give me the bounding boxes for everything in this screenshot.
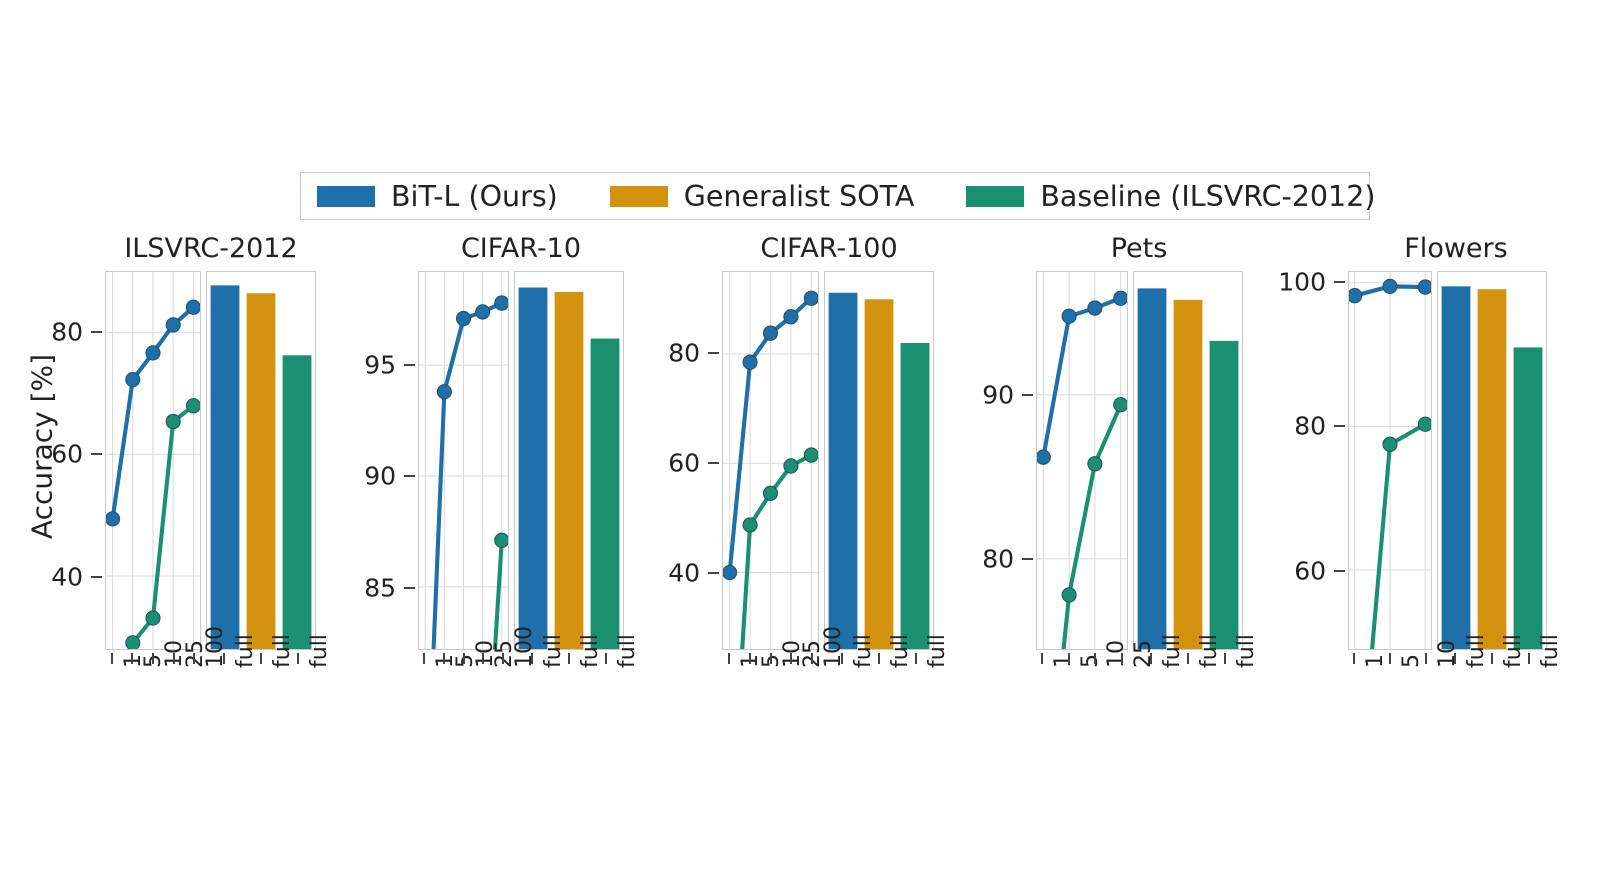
legend-swatch-baseline (966, 186, 1024, 207)
x-tick-label: full (1538, 634, 1563, 668)
x-tick-mark (1041, 653, 1043, 664)
x-tick-label: full (307, 634, 332, 668)
y-tick-mark (91, 331, 102, 333)
legend-label-baseline: Baseline (ILSVRC-2012) (1040, 180, 1375, 213)
figure-canvas: BiT-L (Ours) Generalist SOTA Baseline (I… (0, 0, 1600, 891)
x-tick-mark (193, 653, 195, 664)
y-tick-mark (1022, 394, 1033, 396)
x-tick-mark (1425, 653, 1427, 664)
x-tick-mark (568, 653, 570, 664)
y-tick-mark (91, 576, 102, 578)
x-tick-label: full (1501, 634, 1526, 668)
x-tick-mark (1068, 653, 1070, 664)
x-tick-label: full (578, 634, 603, 668)
x-tick-label: full (233, 634, 258, 668)
y-tick-label: 90 (288, 462, 396, 491)
y-tick-label: 95 (288, 350, 396, 379)
x-tick-mark (223, 653, 225, 664)
x-tick-label: full (1234, 634, 1259, 668)
x-tick-label: 10 (1435, 640, 1460, 668)
y-tick-label: 80 (1218, 412, 1326, 441)
line-axes (105, 271, 201, 650)
x-tick-mark (841, 653, 843, 664)
x-tick-mark (531, 653, 533, 664)
y-tick-mark (1334, 425, 1345, 427)
x-tick-mark (749, 653, 751, 664)
x-tick-label: full (270, 634, 295, 668)
y-tick-label: 80 (906, 545, 1014, 574)
x-tick-mark (790, 653, 792, 664)
bar-axes (1437, 271, 1547, 650)
line-axes (1348, 271, 1432, 650)
x-tick-mark (1491, 653, 1493, 664)
x-tick-mark (260, 653, 262, 664)
y-tick-mark (91, 453, 102, 455)
bar-axes (824, 271, 934, 650)
y-tick-label: 60 (1218, 556, 1326, 585)
y-tick-label: 80 (0, 318, 83, 347)
x-tick-label: 10 (1104, 640, 1129, 668)
x-tick-mark (502, 653, 504, 664)
y-tick-mark (708, 352, 719, 354)
x-tick-mark (1454, 653, 1456, 664)
x-tick-label: full (541, 634, 566, 668)
line-axes (1036, 271, 1128, 650)
y-tick-label: 40 (592, 559, 700, 588)
x-tick-label: full (1160, 634, 1185, 668)
panel-title: Flowers (1306, 233, 1600, 264)
x-tick-mark (1094, 653, 1096, 664)
x-tick-mark (770, 653, 772, 664)
y-tick-label: 40 (0, 562, 83, 591)
y-tick-label: 80 (592, 339, 700, 368)
y-tick-mark (708, 572, 719, 574)
x-tick-mark (111, 653, 113, 664)
panel-title: CIFAR-10 (371, 233, 671, 264)
x-tick-mark (463, 653, 465, 664)
legend: BiT-L (Ours) Generalist SOTA Baseline (I… (300, 172, 1370, 220)
y-tick-label: 90 (906, 380, 1014, 409)
y-tick-mark (708, 462, 719, 464)
y-tick-mark (404, 475, 415, 477)
panel-title: ILSVRC-2012 (61, 233, 361, 264)
x-tick-mark (131, 653, 133, 664)
y-tick-label: 100 (1218, 267, 1326, 296)
legend-label-bit-l: BiT-L (Ours) (391, 180, 558, 213)
x-tick-mark (728, 653, 730, 664)
x-tick-mark (482, 653, 484, 664)
x-tick-label: 1 (1363, 654, 1388, 668)
x-tick-mark (605, 653, 607, 664)
y-tick-mark (1334, 281, 1345, 283)
x-tick-mark (878, 653, 880, 664)
x-tick-mark (1150, 653, 1152, 664)
legend-entry-generalist-sota: Generalist SOTA (610, 173, 915, 219)
legend-entry-bit-l: BiT-L (Ours) (317, 173, 558, 219)
line-axes (418, 271, 509, 650)
y-tick-mark (1334, 570, 1345, 572)
panel-title: CIFAR-100 (679, 233, 979, 264)
x-tick-mark (915, 653, 917, 664)
x-tick-mark (1187, 653, 1189, 664)
legend-swatch-bit-l (317, 186, 375, 207)
x-tick-mark (423, 653, 425, 664)
y-tick-label: 85 (288, 573, 396, 602)
panel-title: Pets (989, 233, 1289, 264)
legend-entry-baseline: Baseline (ILSVRC-2012) (966, 173, 1375, 219)
x-tick-mark (1121, 653, 1123, 664)
y-tick-mark (1022, 558, 1033, 560)
x-tick-label: 5 (1078, 654, 1103, 668)
legend-swatch-generalist-sota (610, 186, 668, 207)
x-tick-label: 5 (1399, 654, 1424, 668)
x-tick-label: full (1197, 634, 1222, 668)
y-tick-label: 60 (0, 440, 83, 469)
x-tick-mark (1389, 653, 1391, 664)
line-axes (722, 271, 819, 650)
x-tick-label: 1 (1051, 654, 1076, 668)
x-tick-mark (1528, 653, 1530, 664)
x-tick-mark (443, 653, 445, 664)
x-tick-label: full (888, 634, 913, 668)
x-tick-mark (152, 653, 154, 664)
y-tick-mark (404, 364, 415, 366)
x-tick-label: full (615, 634, 640, 668)
y-tick-label: 60 (592, 449, 700, 478)
x-tick-mark (811, 653, 813, 664)
x-tick-mark (173, 653, 175, 664)
x-tick-mark (297, 653, 299, 664)
x-tick-label: full (851, 634, 876, 668)
legend-label-generalist-sota: Generalist SOTA (684, 180, 915, 213)
bar-axes (1133, 271, 1243, 650)
x-tick-mark (1224, 653, 1226, 664)
y-tick-mark (404, 587, 415, 589)
x-tick-label: full (925, 634, 950, 668)
x-tick-label: full (1464, 634, 1489, 668)
x-tick-mark (1353, 653, 1355, 664)
